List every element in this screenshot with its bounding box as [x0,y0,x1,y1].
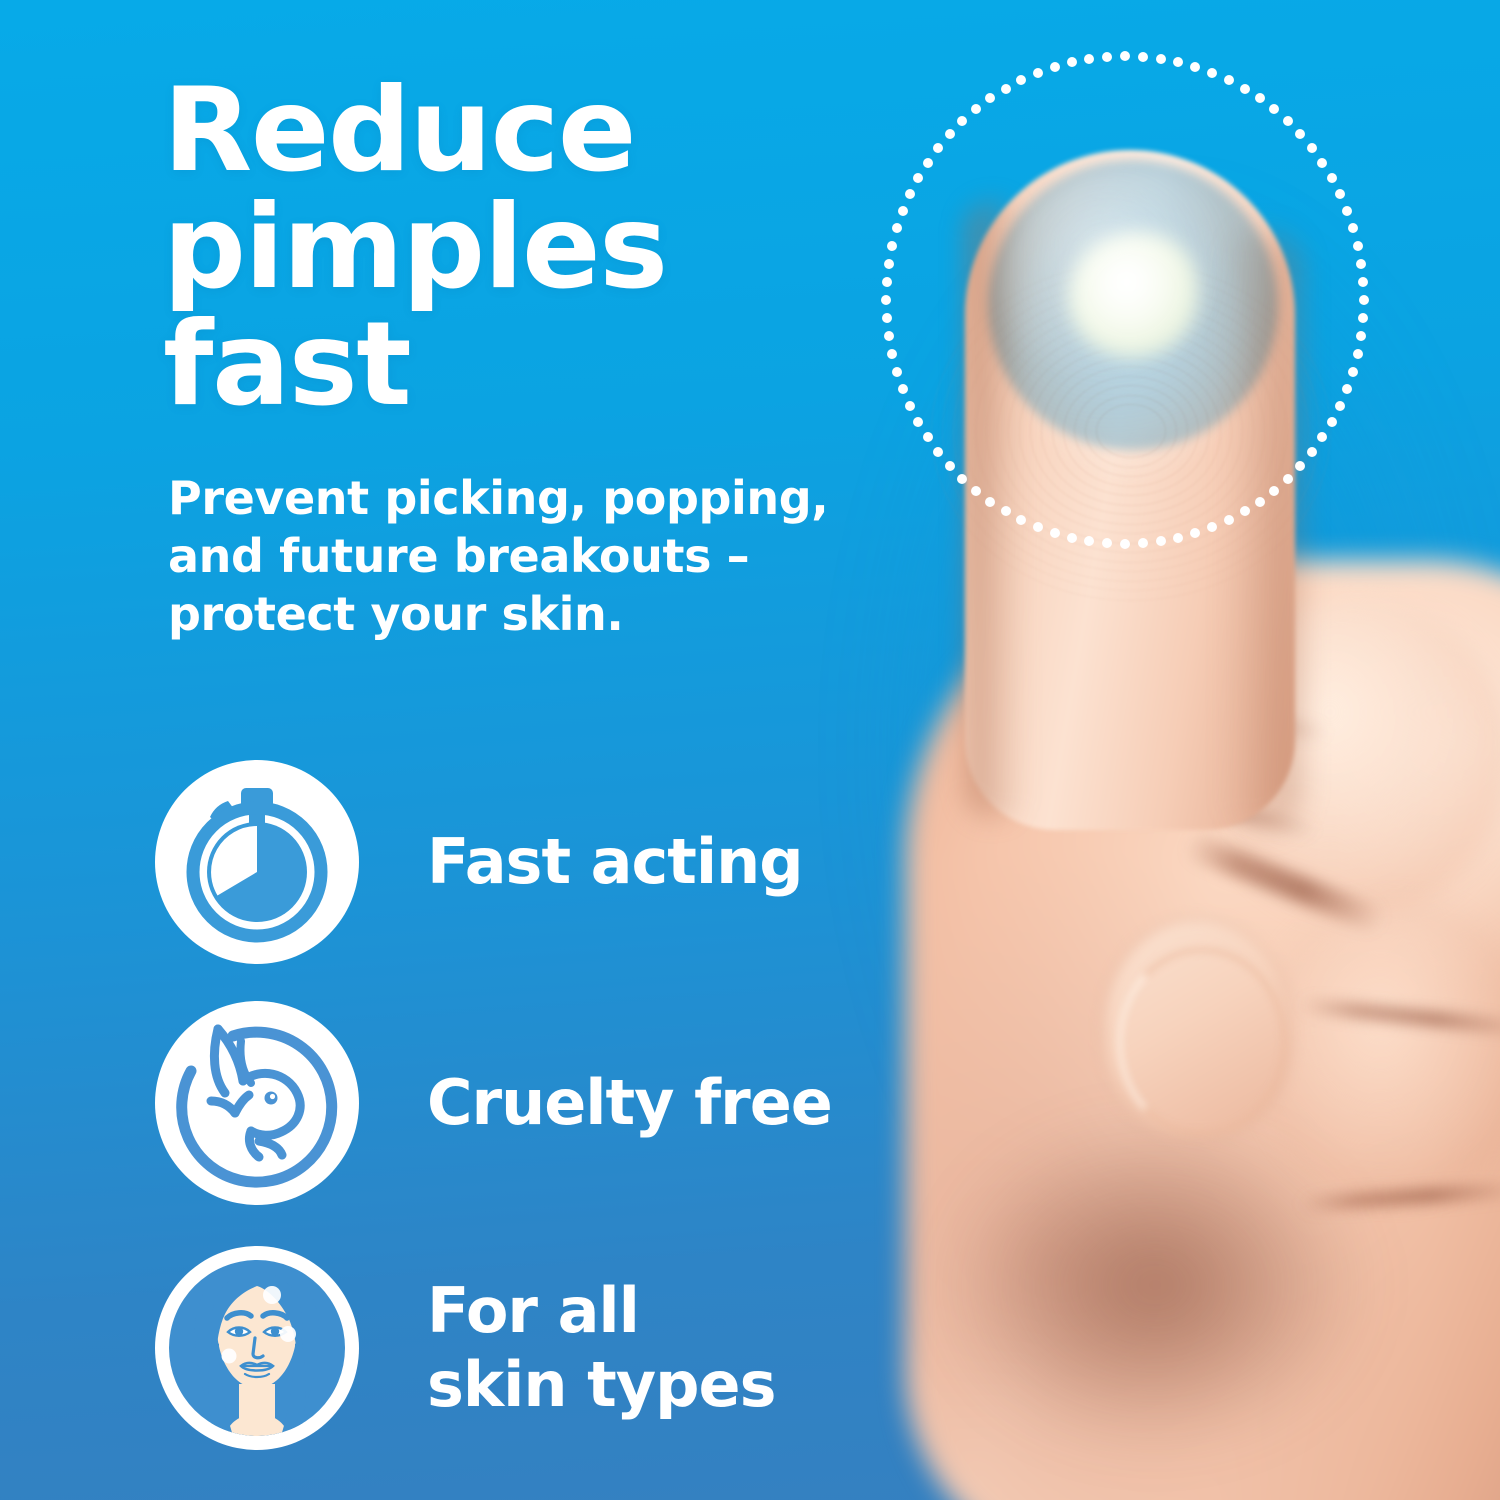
feature-row-fast-acting: Fast acting [155,760,803,964]
fist-shadow [940,1120,1370,1450]
feature-row-all-skin-types: For all skin types [155,1246,776,1450]
feature-label: Fast acting [427,825,803,899]
treatment-blob [1068,232,1198,357]
feature-label: Cruelty free [427,1066,832,1140]
feature-row-cruelty-free: Cruelty free [155,1001,832,1205]
woman-face-icon [155,1246,359,1450]
product-marketing-image: Reduce pimples fast Prevent picking, pop… [0,0,1500,1500]
rabbit-cruelty-free-icon [155,1001,359,1205]
thumbnail-rim [1118,948,1286,1136]
feature-label: For all skin types [427,1274,776,1422]
page-title: Reduce pimples fast [163,72,667,423]
stopwatch-icon [155,760,359,964]
subtitle: Prevent picking, popping, and future bre… [168,469,828,643]
